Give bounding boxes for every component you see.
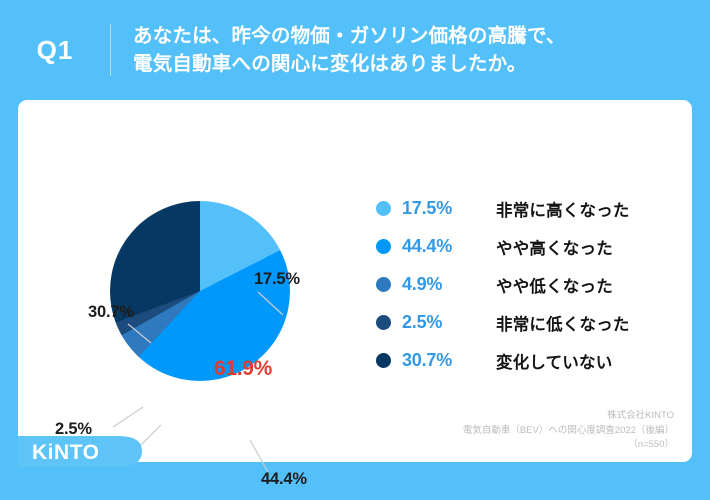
legend-percent: 17.5%: [402, 198, 480, 219]
pie-label-30: 30.7%: [88, 303, 134, 322]
pie-chart: 17.5% 44.4% 30.7% 2.5% 4.9% 61.9%: [18, 100, 378, 420]
legend-label: 非常に低くなった: [496, 311, 630, 335]
logo-text: KiNTO: [32, 441, 99, 465]
legend-color-dot: [376, 277, 391, 292]
question-line-1: あなたは、昨今の物価・ガソリン価格の高騰で、: [133, 22, 566, 50]
pie-label-17: 17.5%: [254, 270, 300, 289]
legend-label: 変化していない: [496, 349, 612, 373]
legend-color-dot: [376, 239, 391, 254]
legend-label: やや高くなった: [496, 235, 613, 259]
legend-item: 4.9% やや低くなった: [376, 266, 676, 303]
legend-color-dot: [376, 315, 391, 330]
source-survey: 電気自動車（BEV）への関心度調査2022（後編）: [463, 424, 674, 439]
kinto-logo: KiNTO: [18, 434, 146, 468]
legend-color-dot: [376, 353, 391, 368]
source-sample-size: （n=550）: [463, 438, 674, 453]
legend-percent: 2.5%: [402, 312, 480, 333]
content-card: 17.5% 44.4% 30.7% 2.5% 4.9% 61.9% 17.5% …: [18, 100, 692, 462]
header-divider: [110, 24, 111, 76]
question-header: Q1 あなたは、昨今の物価・ガソリン価格の高騰で、 電気自動車への関心に変化はあ…: [0, 0, 710, 100]
legend-label: 非常に高くなった: [496, 197, 630, 221]
pie-highlight-total: 61.9%: [214, 357, 272, 381]
legend-item: 17.5% 非常に高くなった: [376, 190, 676, 227]
question-text: あなたは、昨今の物価・ガソリン価格の高騰で、 電気自動車への関心に変化はありまし…: [133, 22, 566, 79]
source-note: 株式会社KINTO 電気自動車（BEV）への関心度調査2022（後編） （n=5…: [463, 409, 674, 453]
source-company: 株式会社KINTO: [463, 409, 674, 424]
legend-item: 44.4% やや高くなった: [376, 228, 676, 265]
question-line-2: 電気自動車への関心に変化はありましたか。: [133, 50, 566, 78]
pie-label-44: 44.4%: [261, 470, 307, 489]
pie-graphic: [110, 201, 290, 381]
legend-percent: 30.7%: [402, 350, 480, 371]
legend: 17.5% 非常に高くなった 44.4% やや高くなった 4.9% やや低くなっ…: [376, 190, 676, 380]
legend-item: 30.7% 変化していない: [376, 342, 676, 379]
legend-percent: 4.9%: [402, 274, 480, 295]
legend-item: 2.5% 非常に低くなった: [376, 304, 676, 341]
legend-percent: 44.4%: [402, 236, 480, 257]
legend-color-dot: [376, 201, 391, 216]
question-number: Q1: [0, 35, 110, 66]
legend-label: やや低くなった: [496, 273, 613, 297]
